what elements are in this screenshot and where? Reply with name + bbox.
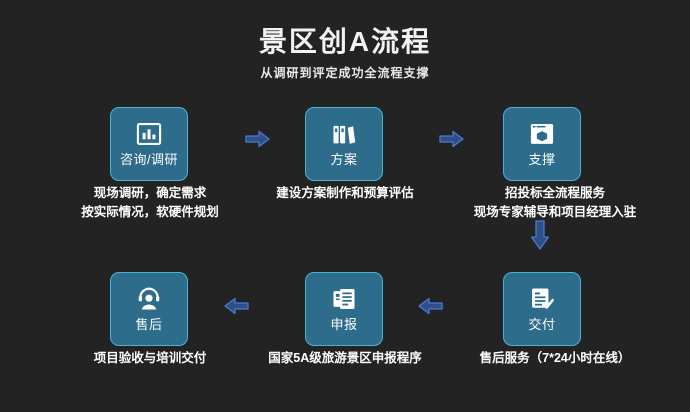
step-card-label: 申报 bbox=[330, 316, 357, 333]
arrow-left-icon bbox=[222, 295, 250, 317]
bar-chart-icon bbox=[135, 120, 163, 148]
desc-line: 招投标全流程服务 bbox=[420, 184, 690, 203]
document-lines-icon bbox=[330, 285, 358, 313]
page-title: 景区创A流程 bbox=[0, 24, 690, 60]
step-card-label: 交付 bbox=[528, 316, 555, 333]
arrow-down-icon bbox=[528, 219, 552, 253]
desc-line: 项目验收与培训交付 bbox=[0, 349, 300, 368]
step-card-application[interactable]: 申报 bbox=[305, 272, 383, 346]
page-subtitle: 从调研到评定成功全流程支撑 bbox=[0, 65, 690, 81]
step-card-support[interactable]: 支撑 bbox=[503, 107, 581, 181]
flow-diagram-page: 景区创A流程 从调研到评定成功全流程支撑 咨询/调研 方案 bbox=[0, 0, 690, 412]
books-icon bbox=[330, 120, 358, 148]
arrow-left-icon bbox=[416, 295, 444, 317]
page-header: 景区创A流程 从调研到评定成功全流程支撑 bbox=[0, 24, 690, 81]
step-card-consulting[interactable]: 咨询/调研 bbox=[110, 107, 188, 181]
step-card-label: 支撑 bbox=[528, 151, 555, 168]
step-card-aftersales[interactable]: 售后 bbox=[110, 272, 188, 346]
step-card-delivery[interactable]: 交付 bbox=[503, 272, 581, 346]
step-description-aftersales: 项目验收与培训交付 bbox=[0, 349, 300, 368]
step-card-label: 售后 bbox=[135, 316, 162, 333]
browser-package-icon bbox=[528, 120, 556, 148]
step-card-label: 方案 bbox=[330, 151, 357, 168]
step-card-plan[interactable]: 方案 bbox=[305, 107, 383, 181]
document-check-icon bbox=[528, 285, 556, 313]
step-description-support: 招投标全流程服务 现场专家辅导和项目经理入驻 bbox=[420, 184, 690, 222]
headset-support-icon bbox=[135, 285, 163, 313]
step-card-label: 咨询/调研 bbox=[120, 151, 178, 168]
desc-line: 现场专家辅导和项目经理入驻 bbox=[420, 203, 690, 222]
desc-line: 按实际情况，软硬件规划 bbox=[0, 203, 300, 222]
arrow-right-icon bbox=[438, 128, 466, 150]
arrow-right-icon bbox=[244, 128, 272, 150]
